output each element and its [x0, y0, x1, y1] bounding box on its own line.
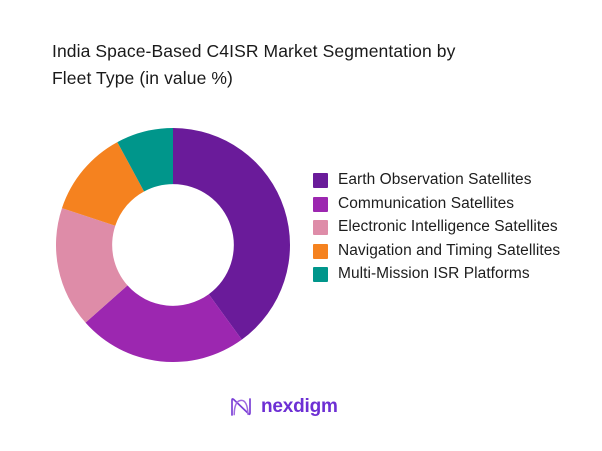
- legend-item[interactable]: Electronic Intelligence Satellites: [313, 216, 593, 239]
- page-title: India Space-Based C4ISR Market Segmentat…: [52, 38, 552, 92]
- legend-color-swatch: [313, 220, 328, 235]
- donut-chart-svg: [56, 128, 290, 362]
- legend-item-label: Electronic Intelligence Satellites: [338, 216, 558, 239]
- legend-item-label: Communication Satellites: [338, 193, 514, 216]
- chart-page: India Space-Based C4ISR Market Segmentat…: [0, 0, 602, 451]
- legend-item-label: Navigation and Timing Satellites: [338, 240, 560, 263]
- legend-item[interactable]: Communication Satellites: [313, 193, 593, 216]
- legend-item[interactable]: Earth Observation Satellites: [313, 169, 593, 192]
- legend-color-swatch: [313, 173, 328, 188]
- legend-item-label: Multi-Mission ISR Platforms: [338, 263, 530, 286]
- brand-logo-text: nexdigm: [261, 396, 338, 418]
- brand-logo: nexdigm: [228, 394, 338, 420]
- chart-legend: Earth Observation SatellitesCommunicatio…: [313, 169, 593, 287]
- legend-color-swatch: [313, 244, 328, 259]
- legend-item-label: Earth Observation Satellites: [338, 169, 532, 192]
- legend-item[interactable]: Navigation and Timing Satellites: [313, 240, 593, 263]
- legend-item[interactable]: Multi-Mission ISR Platforms: [313, 263, 593, 286]
- donut-slice-group: [56, 128, 290, 362]
- legend-color-swatch: [313, 197, 328, 212]
- nexdigm-monogram-icon: [228, 394, 254, 420]
- legend-color-swatch: [313, 267, 328, 282]
- donut-chart: [56, 128, 290, 362]
